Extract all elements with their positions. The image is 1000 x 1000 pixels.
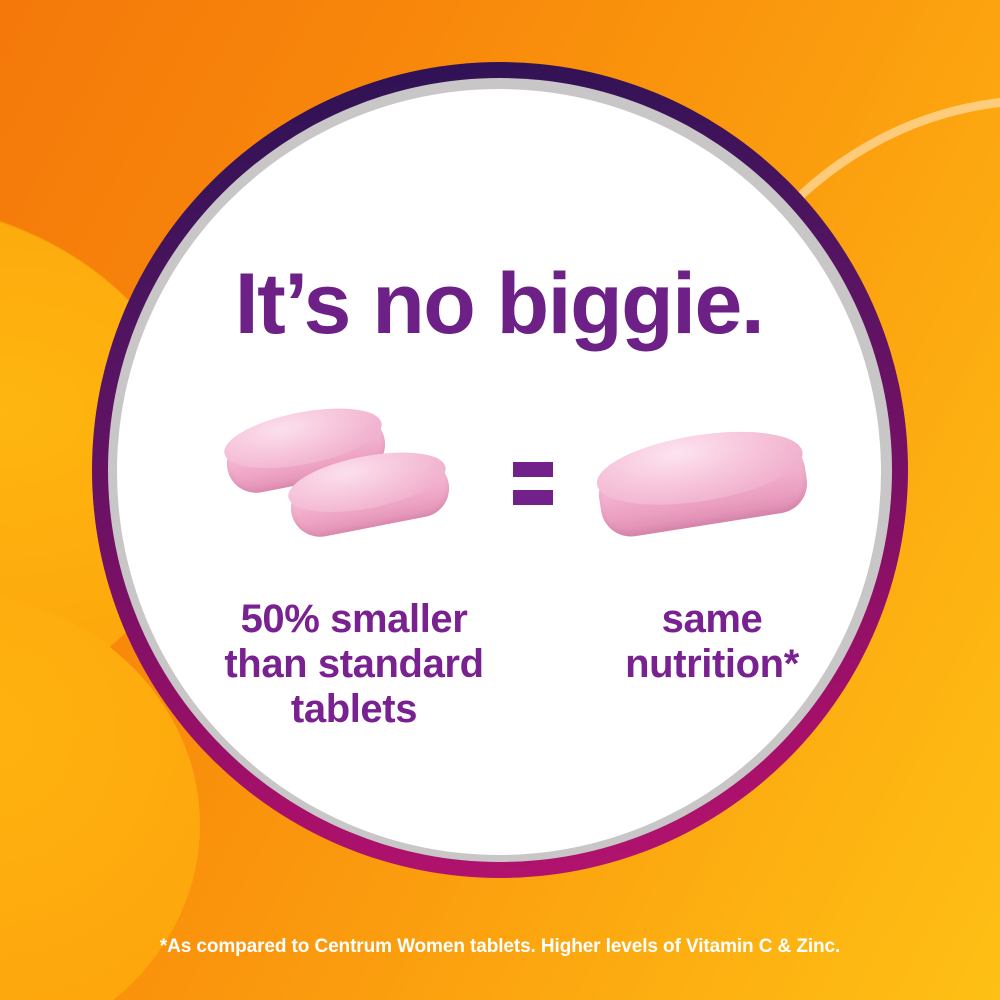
circular-badge: It’s no biggie.	[92, 62, 908, 878]
caption-right-line-1: same	[537, 597, 881, 642]
footnote-disclaimer: *As compared to Centrum Women tablets. H…	[0, 936, 1000, 958]
badge-face: It’s no biggie.	[117, 89, 881, 855]
page-title: It’s no biggie.	[117, 261, 881, 347]
caption-left: 50% smaller than standard tablets	[169, 597, 539, 731]
caption-left-line-2: than standard	[169, 642, 539, 687]
caption-left-line-3: tablets	[169, 687, 539, 732]
large-tablet-icon	[595, 437, 812, 541]
equals-sign-icon	[513, 462, 553, 508]
caption-left-line-1: 50% smaller	[169, 597, 539, 642]
caption-right: same nutrition*	[537, 597, 881, 687]
one-large-tablet-icon	[599, 433, 815, 553]
two-small-tablets-icon	[212, 411, 467, 561]
equals-bar-lower	[513, 490, 553, 505]
comparison-row	[117, 411, 881, 571]
caption-right-line-2: nutrition*	[537, 642, 881, 687]
promo-graphic: It’s no biggie.	[0, 0, 1000, 1000]
equals-bar-upper	[513, 462, 553, 477]
